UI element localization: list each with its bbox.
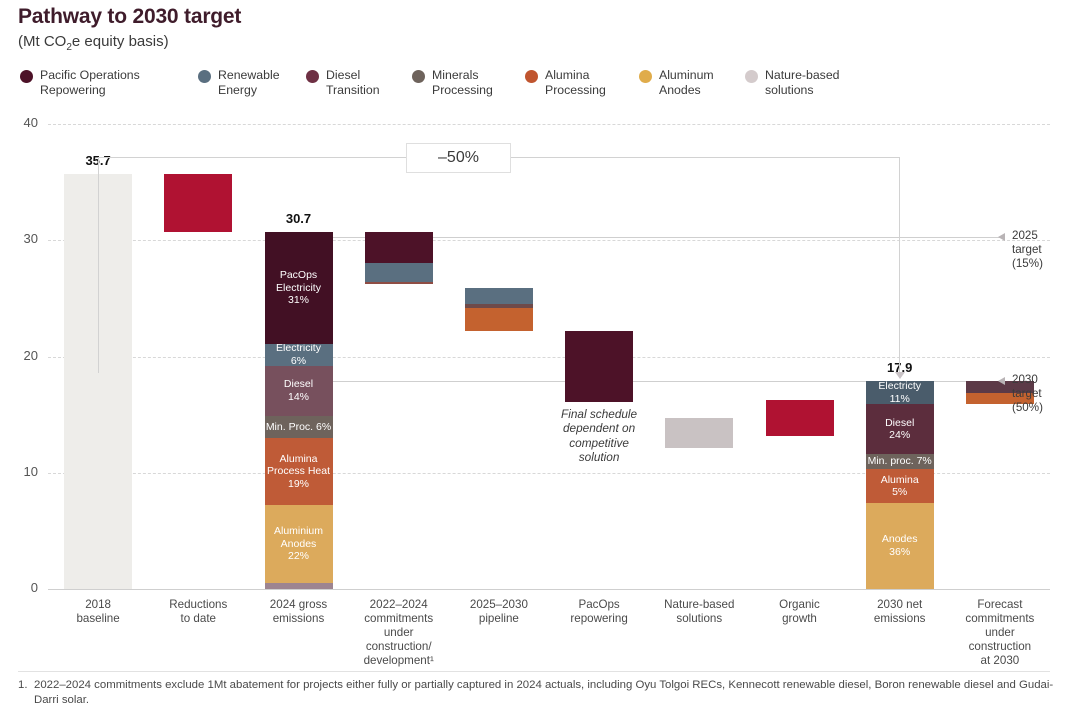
y-axis-tick-40: 40 xyxy=(2,115,38,130)
footnote-divider xyxy=(18,671,1050,672)
bar-8-segment-1: Diesel24% xyxy=(866,404,934,454)
chart-subtitle: (Mt CO2e equity basis) xyxy=(18,33,169,53)
x-axis-label-3: 2022–2024 commitments under construction… xyxy=(349,598,449,668)
y-axis-tick-20: 20 xyxy=(2,348,38,363)
bar-8-segment-4: Anodes36% xyxy=(866,503,934,589)
legend-item-2: Diesel Transition xyxy=(306,68,406,104)
bar-7[interactable] xyxy=(766,400,834,436)
x-axis-label-7: Organic growth xyxy=(749,598,849,626)
reduction-connector xyxy=(98,157,900,373)
segment-percent: 14% xyxy=(288,391,309,404)
legend-swatch-icon xyxy=(639,70,652,83)
legend-swatch-icon xyxy=(306,70,319,83)
bar-7-segment-0 xyxy=(766,400,834,436)
bar-8-segment-3: Alumina5% xyxy=(866,469,934,503)
segment-label: Alumina xyxy=(881,474,919,487)
segment-label: Electricty xyxy=(878,381,921,393)
segment-label: Aluminium Anodes xyxy=(274,525,323,550)
segment-percent: 11% xyxy=(890,393,910,405)
bar-8-segment-0: Electricty11% xyxy=(866,381,934,404)
y-axis-tick-0: 0 xyxy=(2,580,38,595)
legend-swatch-icon xyxy=(745,70,758,83)
page-title: Pathway to 2030 target xyxy=(18,5,241,29)
bar-2-segment-3: Min. Proc. 6% xyxy=(265,416,333,438)
segment-percent: 19% xyxy=(288,478,309,491)
legend-label: Nature-based solutions xyxy=(765,68,840,98)
subtitle-post: e equity basis) xyxy=(72,33,169,50)
x-axis-label-2: 2024 gross emissions xyxy=(248,598,348,626)
gridline-0 xyxy=(48,589,1050,590)
legend-swatch-icon xyxy=(412,70,425,83)
legend-item-4: Alumina Processing xyxy=(525,68,633,104)
target-2030-arrow-icon xyxy=(998,377,1005,385)
footnote-number: 1. xyxy=(18,678,34,708)
bar-8[interactable]: Electricty11%Diesel24%Min. proc. 7%Alumi… xyxy=(866,381,934,589)
legend-item-5: Aluminum Anodes xyxy=(639,68,739,104)
segment-percent: 22% xyxy=(288,550,309,563)
bar-6[interactable] xyxy=(665,418,733,448)
segment-percent: 36% xyxy=(889,546,910,559)
bar-2-segment-6 xyxy=(265,583,333,589)
target-2025-label: 2025 target (15%) xyxy=(1012,229,1050,271)
x-axis-label-9: Forecast commitments under construction … xyxy=(950,598,1050,668)
y-axis-tick-10: 10 xyxy=(2,464,38,479)
subtitle-pre: (Mt CO xyxy=(18,33,66,50)
legend-label: Minerals Processing xyxy=(432,68,493,98)
bar-2-segment-5: Aluminium Anodes22% xyxy=(265,505,333,583)
legend-label: Pacific Operations Repowering xyxy=(40,68,140,98)
x-axis-label-5: PacOps repowering xyxy=(549,598,649,626)
segment-label: Diesel xyxy=(284,378,313,391)
footnote: 1. 2022–2024 commitments exclude 1Mt aba… xyxy=(18,678,1058,708)
segment-label: Diesel xyxy=(885,417,914,430)
bar-2-segment-2: Diesel14% xyxy=(265,366,333,416)
chart-legend: Pacific Operations RepoweringRenewable E… xyxy=(20,68,1050,104)
legend-item-6: Nature-based solutions xyxy=(745,68,865,104)
target-2030-label: 2030 target (50%) xyxy=(1012,373,1050,415)
legend-item-0: Pacific Operations Repowering xyxy=(20,68,192,104)
segment-label: Alumina Process Heat xyxy=(267,453,330,478)
segment-label: Anodes xyxy=(882,533,918,546)
legend-swatch-icon xyxy=(20,70,33,83)
x-axis-label-6: Nature-based solutions xyxy=(649,598,749,626)
segment-percent: 24% xyxy=(889,429,910,442)
chart-plot-area: 01020304035.72018 baselineReductions to … xyxy=(48,124,1050,591)
legend-swatch-icon xyxy=(198,70,211,83)
legend-label: Alumina Processing xyxy=(545,68,606,98)
legend-label: Diesel Transition xyxy=(326,68,380,98)
pacops-schedule-note: Final schedule dependent on competitive … xyxy=(549,407,649,465)
footnote-text: 2022–2024 commitments exclude 1Mt abatem… xyxy=(34,678,1058,708)
x-axis-label-0: 2018 baseline xyxy=(48,598,148,626)
x-axis-label-8: 2030 net emissions xyxy=(850,598,950,626)
legend-item-3: Minerals Processing xyxy=(412,68,519,104)
segment-percent: 5% xyxy=(892,486,907,499)
bar-6-segment-0 xyxy=(665,418,733,448)
segment-label: Min. Proc. 6% xyxy=(266,421,331,434)
target-2025-arrow-icon xyxy=(998,233,1005,241)
x-axis-label-4: 2025–2030 pipeline xyxy=(449,598,549,626)
y-axis-tick-30: 30 xyxy=(2,231,38,246)
bar-2-segment-4: Alumina Process Heat19% xyxy=(265,438,333,505)
legend-swatch-icon xyxy=(525,70,538,83)
gridline-40 xyxy=(48,124,1050,125)
chart-page: Pathway to 2030 target (Mt CO2e equity b… xyxy=(0,0,1068,715)
bar-8-segment-2: Min. proc. 7% xyxy=(866,454,934,469)
legend-label: Renewable Energy xyxy=(218,68,280,98)
legend-item-1: Renewable Energy xyxy=(198,68,300,104)
segment-label: Min. proc. 7% xyxy=(868,455,932,468)
legend-label: Aluminum Anodes xyxy=(659,68,714,98)
reduction-arrow-down-icon xyxy=(895,372,905,379)
reduction-callout: –50% xyxy=(406,143,511,173)
x-axis-label-1: Reductions to date xyxy=(148,598,248,626)
